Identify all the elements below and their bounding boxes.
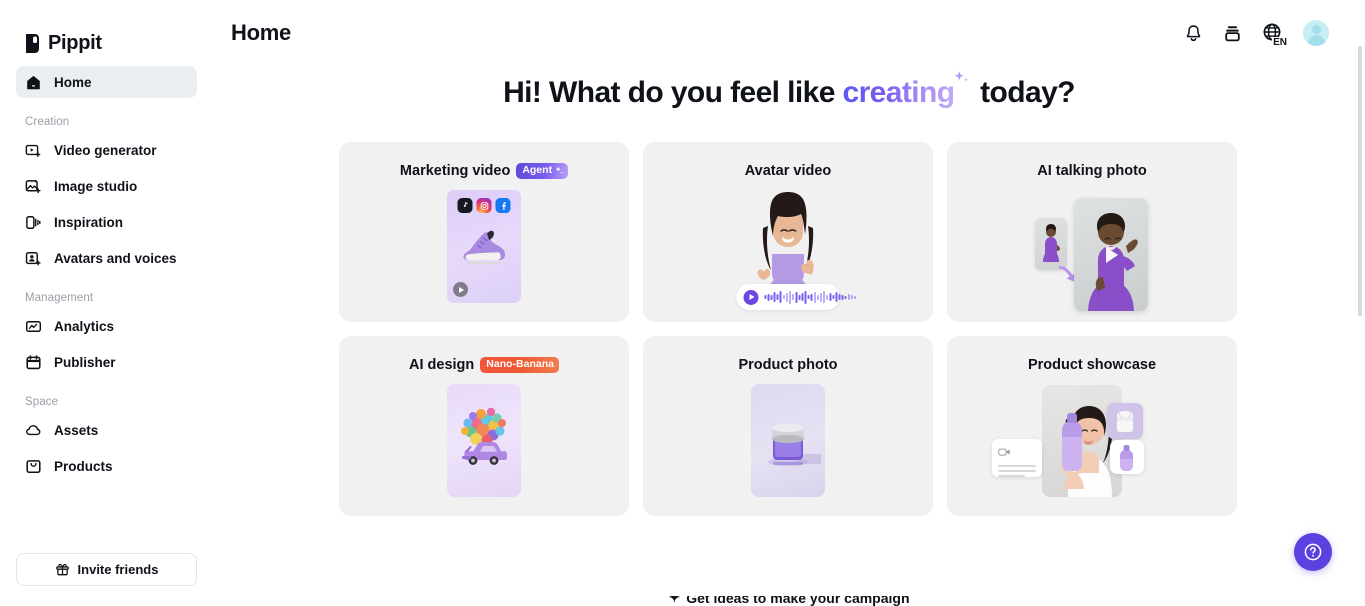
play-icon [744, 290, 759, 305]
marketing-video-thumb [447, 190, 521, 303]
sidebar-item-label: Image studio [54, 179, 137, 194]
topbar: Home EN [213, 0, 1365, 66]
invite-friends-label: Invite friends [78, 562, 159, 577]
headline-suffix: today? [972, 76, 1074, 109]
caption-line [998, 465, 1036, 467]
badge-nano-banana: Nano-Banana [480, 357, 559, 373]
card-title-row: Product photo [643, 336, 933, 373]
product-showcase-thumb [1042, 385, 1122, 497]
invite-friends-button[interactable]: Invite friends [16, 553, 197, 586]
card-title: Product showcase [1028, 357, 1156, 373]
card-product-photo[interactable]: Product photo [643, 336, 933, 516]
play-icon [453, 282, 468, 297]
headline-prefix: Hi! What do you feel like [503, 76, 842, 109]
sparkle-icon [952, 70, 972, 88]
facebook-icon [496, 198, 511, 213]
sidebar-item-video-generator[interactable]: Video generator [16, 134, 197, 166]
sidebar-item-products[interactable]: Products [16, 450, 197, 482]
brand-name: Pippit [48, 32, 102, 55]
waveform [765, 290, 856, 304]
home-icon [25, 74, 42, 91]
sidebar-item-assets[interactable]: Assets [16, 414, 197, 446]
gift-icon [55, 562, 70, 577]
sidebar: Pippit Home Creation Video generator [0, 0, 213, 606]
card-marketing-video[interactable]: Marketing video Agent [339, 142, 629, 322]
sidebar-item-label: Video generator [54, 143, 157, 158]
sidebar-group-management: Management [16, 278, 197, 310]
feature-card-grid: Marketing video Agent [339, 110, 1239, 516]
sidebar-item-label: Products [54, 459, 113, 474]
badge-agent: Agent [516, 163, 568, 179]
sidebar-item-label: Avatars and voices [54, 251, 177, 266]
box-icon [25, 458, 42, 475]
vertical-scrollbar[interactable] [1358, 46, 1362, 316]
card-title: Marketing video [400, 163, 510, 179]
layers-icon[interactable] [1222, 23, 1243, 44]
card-thumbnail [947, 384, 1237, 516]
card-title-row: Product showcase [947, 336, 1237, 373]
topbar-actions: EN [1183, 20, 1329, 46]
avatar-person-icon [25, 250, 42, 267]
social-icon-row [458, 198, 511, 213]
avatar-head [1312, 25, 1321, 34]
card-title-row: Marketing video Agent [339, 142, 629, 179]
sidebar-group-space: Space [16, 382, 197, 414]
phone-swipe-icon [25, 214, 42, 231]
card-thumbnail [643, 190, 933, 322]
product-photo-thumb [751, 384, 825, 497]
card-ai-talking-photo[interactable]: AI talking photo [947, 142, 1237, 322]
card-thumbnail [643, 384, 933, 516]
card-title: AI design [409, 357, 474, 373]
calendar-icon [25, 354, 42, 371]
instagram-icon [477, 198, 492, 213]
avatar[interactable] [1303, 20, 1329, 46]
sidebar-item-image-studio[interactable]: Image studio [16, 170, 197, 202]
app-root: Pippit Home Creation Video generator [0, 0, 1365, 606]
card-title-row: AI talking photo [947, 142, 1237, 179]
sidebar-item-label: Analytics [54, 319, 114, 334]
card-title-row: Avatar video [643, 142, 933, 179]
card-title: Avatar video [745, 163, 832, 179]
card-title-row: AI design Nano-Banana [339, 336, 629, 373]
headline-accent: creating [843, 76, 955, 109]
image-sparkle-icon [25, 178, 42, 195]
product-variant-chip-2 [1110, 440, 1144, 474]
sidebar-nav: Home Creation Video generator [0, 66, 213, 482]
pippit-logo-icon [24, 33, 41, 54]
card-title: AI talking photo [1037, 163, 1147, 179]
invite-friends-container: Invite friends [16, 553, 197, 586]
sidebar-item-publisher[interactable]: Publisher [16, 346, 197, 378]
question-circle-icon [1303, 542, 1323, 562]
card-ai-design[interactable]: AI design Nano-Banana [339, 336, 629, 516]
play-icon [1106, 247, 1118, 263]
sidebar-item-avatars-and-voices[interactable]: Avatars and voices [16, 242, 197, 274]
footer-text: ✦ Get ideas to make your campaign [668, 596, 909, 606]
sidebar-item-label: Home [54, 75, 92, 90]
badge-label: Nano-Banana [486, 359, 554, 370]
card-avatar-video[interactable]: Avatar video [643, 142, 933, 322]
language-code: EN [1272, 37, 1288, 48]
card-title: Product photo [738, 357, 837, 373]
footer-label: Get ideas to make your campaign [686, 596, 909, 606]
card-thumbnail [339, 384, 629, 516]
tiktok-icon [458, 198, 473, 213]
card-product-showcase[interactable]: Product showcase [947, 336, 1237, 516]
page-title: Home [231, 20, 291, 46]
caption-line [998, 475, 1025, 477]
card-thumbnail [339, 190, 629, 322]
card-thumbnail [947, 190, 1237, 322]
analytics-chart-icon [25, 318, 42, 335]
product-variant-chip-1 [1107, 403, 1143, 439]
bell-icon[interactable] [1183, 23, 1204, 44]
ai-design-thumb [447, 384, 521, 497]
sidebar-item-home[interactable]: Home [16, 66, 197, 98]
cloud-icon [25, 422, 42, 439]
caption-line [998, 470, 1036, 472]
page-headline: Hi! What do you feel like creating today… [213, 70, 1365, 110]
brand-logo[interactable]: Pippit [0, 0, 213, 66]
help-button[interactable] [1294, 533, 1332, 571]
sparkle-icon [554, 166, 563, 175]
sidebar-group-creation: Creation [16, 102, 197, 134]
caption-card [992, 439, 1042, 477]
sneaker-image [457, 226, 513, 272]
footer-cut-text: ✦ Get ideas to make your campaign [213, 596, 1365, 606]
sidebar-item-label: Publisher [54, 355, 116, 370]
main-content: Home EN [213, 0, 1365, 606]
sidebar-item-label: Inspiration [54, 215, 123, 230]
language-switcher[interactable]: EN [1261, 21, 1285, 45]
sidebar-item-analytics[interactable]: Analytics [16, 310, 197, 342]
sidebar-item-label: Assets [54, 423, 98, 438]
avatar-body [1308, 35, 1325, 46]
sidebar-item-inspiration[interactable]: Inspiration [16, 206, 197, 238]
audio-waveform-bar [737, 284, 840, 310]
video-plus-icon [25, 142, 42, 159]
badge-label: Agent [522, 165, 552, 176]
footer-icon: ✦ [668, 596, 680, 606]
video-camera-icon [998, 447, 1011, 457]
